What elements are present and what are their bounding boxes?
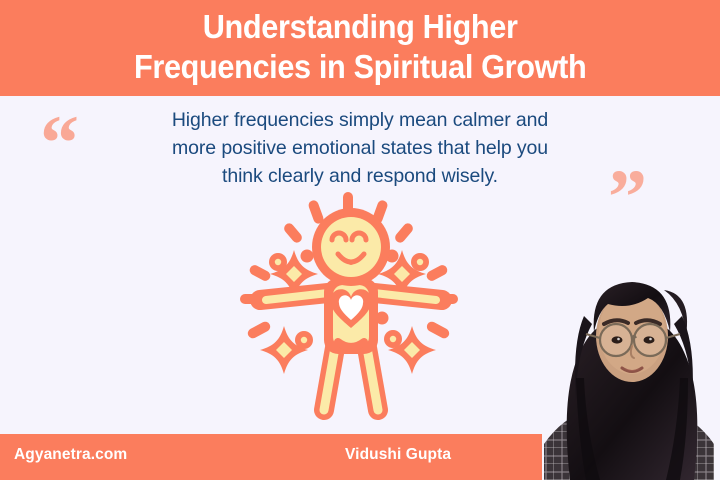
closing-quote-icon: ” <box>608 158 647 236</box>
page-title: Understanding Higher Frequencies in Spir… <box>113 7 606 87</box>
header-banner: Understanding Higher Frequencies in Spir… <box>0 0 720 96</box>
quote-text: Higher frequencies simply mean calmer an… <box>140 106 580 190</box>
site-name[interactable]: Agyanetra.com <box>14 446 127 464</box>
quote-line-2: more positive emotional states that help… <box>172 137 548 159</box>
page-title-line-2: Frequencies in Spiritual Growth <box>134 48 586 85</box>
author-name: Vidushi Gupta <box>345 446 451 464</box>
quote-line-1: Higher frequencies simply mean calmer an… <box>172 109 548 131</box>
joyful-person-illustration <box>232 190 470 420</box>
opening-quote-icon: “ <box>40 104 79 182</box>
quote-card: Understanding Higher Frequencies in Spir… <box>0 0 720 480</box>
page-title-line-1: Understanding Higher <box>203 8 518 45</box>
author-portrait <box>542 228 720 480</box>
quote-line-3: think clearly and respond wisely. <box>222 165 498 187</box>
